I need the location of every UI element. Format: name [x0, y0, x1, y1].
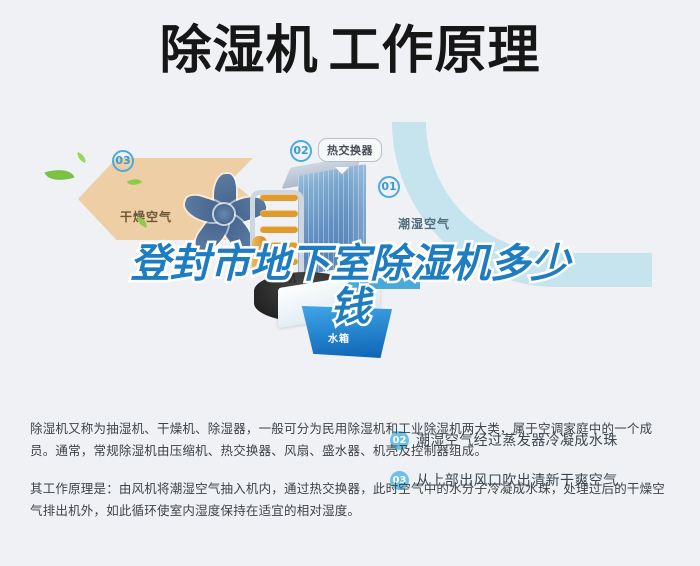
- page-title: 除湿机工作原理: [0, 22, 700, 80]
- page-root: 除湿机工作原理 干燥空气 03: [0, 0, 700, 566]
- humid-air-arrow-icon: [392, 122, 652, 287]
- dehumidifier-diagram: 干燥空气 03: [0, 130, 700, 400]
- page-title-part-a: 除湿机: [159, 21, 318, 81]
- humid-air-label: 潮湿空气: [398, 215, 450, 232]
- diagram-badge-02: 02: [290, 140, 312, 162]
- compressor-label: 压缩机: [268, 272, 297, 285]
- water-tank-label: 水箱: [328, 330, 350, 345]
- body-copy: 除湿机又称为抽湿机、干燥机、除湿器，一般可分为民用除湿机和工业除湿机两大类，属于…: [30, 418, 674, 522]
- body-paragraph-1: 除湿机又称为抽湿机、干燥机、除湿器，一般可分为民用除湿机和工业除湿机两大类，属于…: [30, 418, 674, 462]
- dehumidifier-machine: 压缩机 水箱: [240, 148, 390, 363]
- humid-air-inflow-arrow-icon: [360, 278, 420, 289]
- page-title-part-b: 工作原理: [329, 21, 541, 81]
- refrigerant-coil-icon: [248, 180, 310, 272]
- heat-exchanger-callout: 热交换器: [318, 138, 382, 162]
- leaf-icon: [75, 152, 88, 163]
- accumulator-icon: [252, 236, 267, 270]
- leaf-icon: [44, 164, 74, 186]
- diagram-badge-01: 01: [378, 176, 400, 198]
- diagram-badge-03: 03: [112, 150, 134, 172]
- body-paragraph-2: 其工作原理是：由风机将潮湿空气抽入机内，通过热交换器，此时空气中的水分子冷凝成水…: [30, 478, 674, 522]
